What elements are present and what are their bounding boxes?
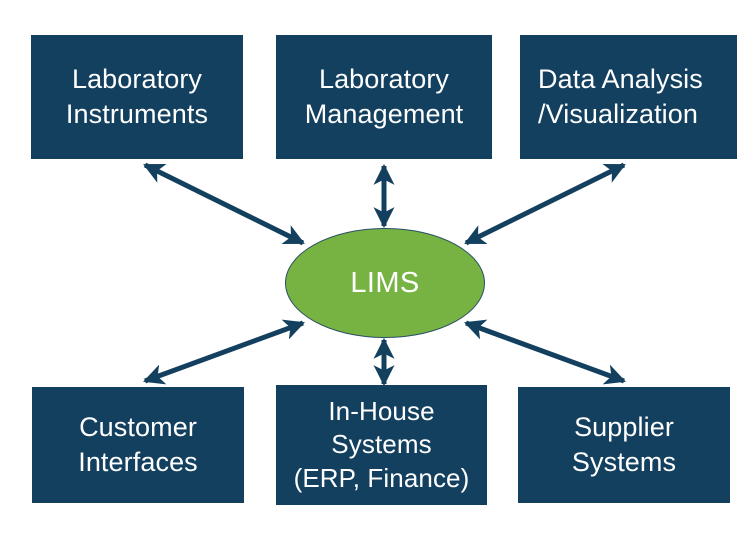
node-laboratory-instruments[interactable]: Laboratory Instruments	[31, 35, 243, 159]
hub-label: LIMS	[350, 267, 419, 300]
hub-node-lims[interactable]: LIMS	[285, 228, 485, 338]
node-label-line: Interfaces	[78, 445, 198, 480]
node-label-line: Laboratory	[319, 62, 449, 97]
connector-hub-to-supplier-systems	[466, 323, 624, 381]
node-label-line: Instruments	[66, 97, 208, 132]
node-in-house-systems[interactable]: In-House Systems (ERP, Finance)	[276, 385, 487, 505]
node-label-line: Customer	[79, 410, 197, 445]
node-label-line: Management	[305, 97, 464, 132]
connector-hub-to-laboratory-instruments	[145, 165, 303, 243]
diagram-canvas: Laboratory Instruments Laboratory Manage…	[0, 0, 756, 554]
node-laboratory-management[interactable]: Laboratory Management	[276, 35, 492, 159]
connector-hub-to-data-analysis-visualization	[466, 165, 624, 243]
node-label-line: In-House	[328, 395, 434, 428]
node-label-line: Systems	[572, 445, 676, 480]
node-label-line: Laboratory	[72, 62, 202, 97]
node-customer-interfaces[interactable]: Customer Interfaces	[32, 387, 244, 503]
node-label-line: (ERP, Finance)	[294, 462, 470, 495]
node-label-line: /Visualization	[538, 97, 698, 132]
node-label-line: Data Analysis	[538, 62, 703, 97]
node-label-line: Systems	[331, 428, 431, 461]
node-supplier-systems[interactable]: Supplier Systems	[518, 387, 730, 503]
node-data-analysis-visualization[interactable]: Data Analysis /Visualization	[520, 35, 737, 159]
node-label-line: Supplier	[574, 410, 674, 445]
connector-hub-to-customer-interfaces	[145, 323, 303, 381]
